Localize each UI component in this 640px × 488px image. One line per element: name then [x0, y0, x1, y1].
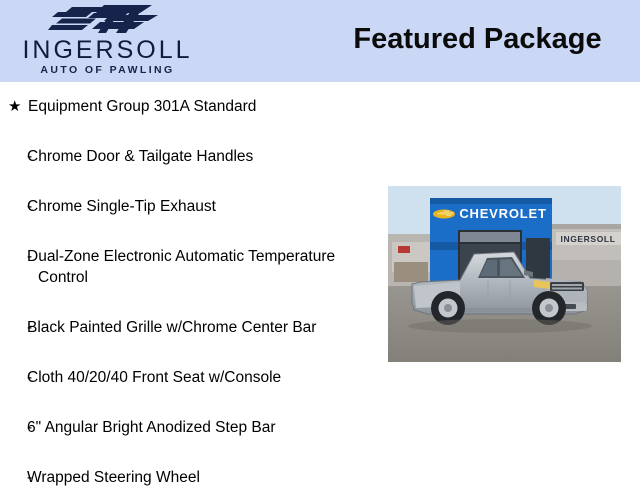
star-bullet-icon: ★	[8, 96, 21, 117]
svg-text:INGERSOLL: INGERSOLL	[561, 234, 616, 244]
dash-bullet-icon: -	[27, 196, 32, 217]
brand-tagline: AUTO OF PAWLING	[0, 64, 215, 76]
feature-item-label: Black Painted Grille w/Chrome Center Bar	[27, 317, 372, 338]
dash-bullet-icon: -	[27, 417, 32, 438]
feature-item-label: Chrome Single-Tip Exhaust	[27, 196, 372, 217]
dash-bullet-icon: -	[27, 246, 32, 267]
feature-item: -Black Painted Grille w/Chrome Center Ba…	[0, 317, 378, 338]
feature-item-label: Dual-Zone Electronic Automatic Temperatu…	[27, 246, 372, 288]
feature-item-heading: ★Equipment Group 301A Standard	[0, 96, 378, 117]
dash-bullet-icon: -	[27, 317, 32, 338]
vehicle-photo: INGERSOLL CHEVROLET	[388, 186, 621, 362]
brand-logo: INGERSOLL AUTO OF PAWLING	[0, 0, 215, 82]
feature-item-label: Equipment Group 301A Standard	[28, 98, 256, 115]
feature-item: -6" Angular Bright Anodized Step Bar	[0, 417, 378, 438]
svg-text:CHEVROLET: CHEVROLET	[459, 206, 546, 221]
feature-item-label: Cloth 40/20/40 Front Seat w/Console	[27, 367, 372, 388]
dash-bullet-icon: -	[27, 146, 32, 167]
feature-item-label: Chrome Door & Tailgate Handles	[27, 146, 372, 167]
dash-bullet-icon: -	[27, 467, 32, 488]
feature-list: ★Equipment Group 301A Standard-Chrome Do…	[0, 82, 378, 488]
feature-item: -Wrapped Steering Wheel	[0, 467, 378, 488]
brand-wordmark: INGERSOLL	[0, 37, 215, 64]
dash-bullet-icon: -	[27, 367, 32, 388]
feature-item: -Chrome Door & Tailgate Handles	[0, 146, 378, 167]
ingersoll-wing-emblem-icon	[48, 3, 166, 37]
feature-item: -Cloth 40/20/40 Front Seat w/Console	[0, 367, 378, 388]
feature-item-label: Wrapped Steering Wheel	[27, 467, 372, 488]
header-band: INGERSOLL AUTO OF PAWLING Featured Packa…	[0, 0, 640, 82]
feature-item: -Dual-Zone Electronic Automatic Temperat…	[0, 246, 378, 288]
feature-item-label: 6" Angular Bright Anodized Step Bar	[27, 417, 372, 438]
page-title: Featured Package	[330, 22, 625, 56]
feature-item: -Chrome Single-Tip Exhaust	[0, 196, 378, 217]
